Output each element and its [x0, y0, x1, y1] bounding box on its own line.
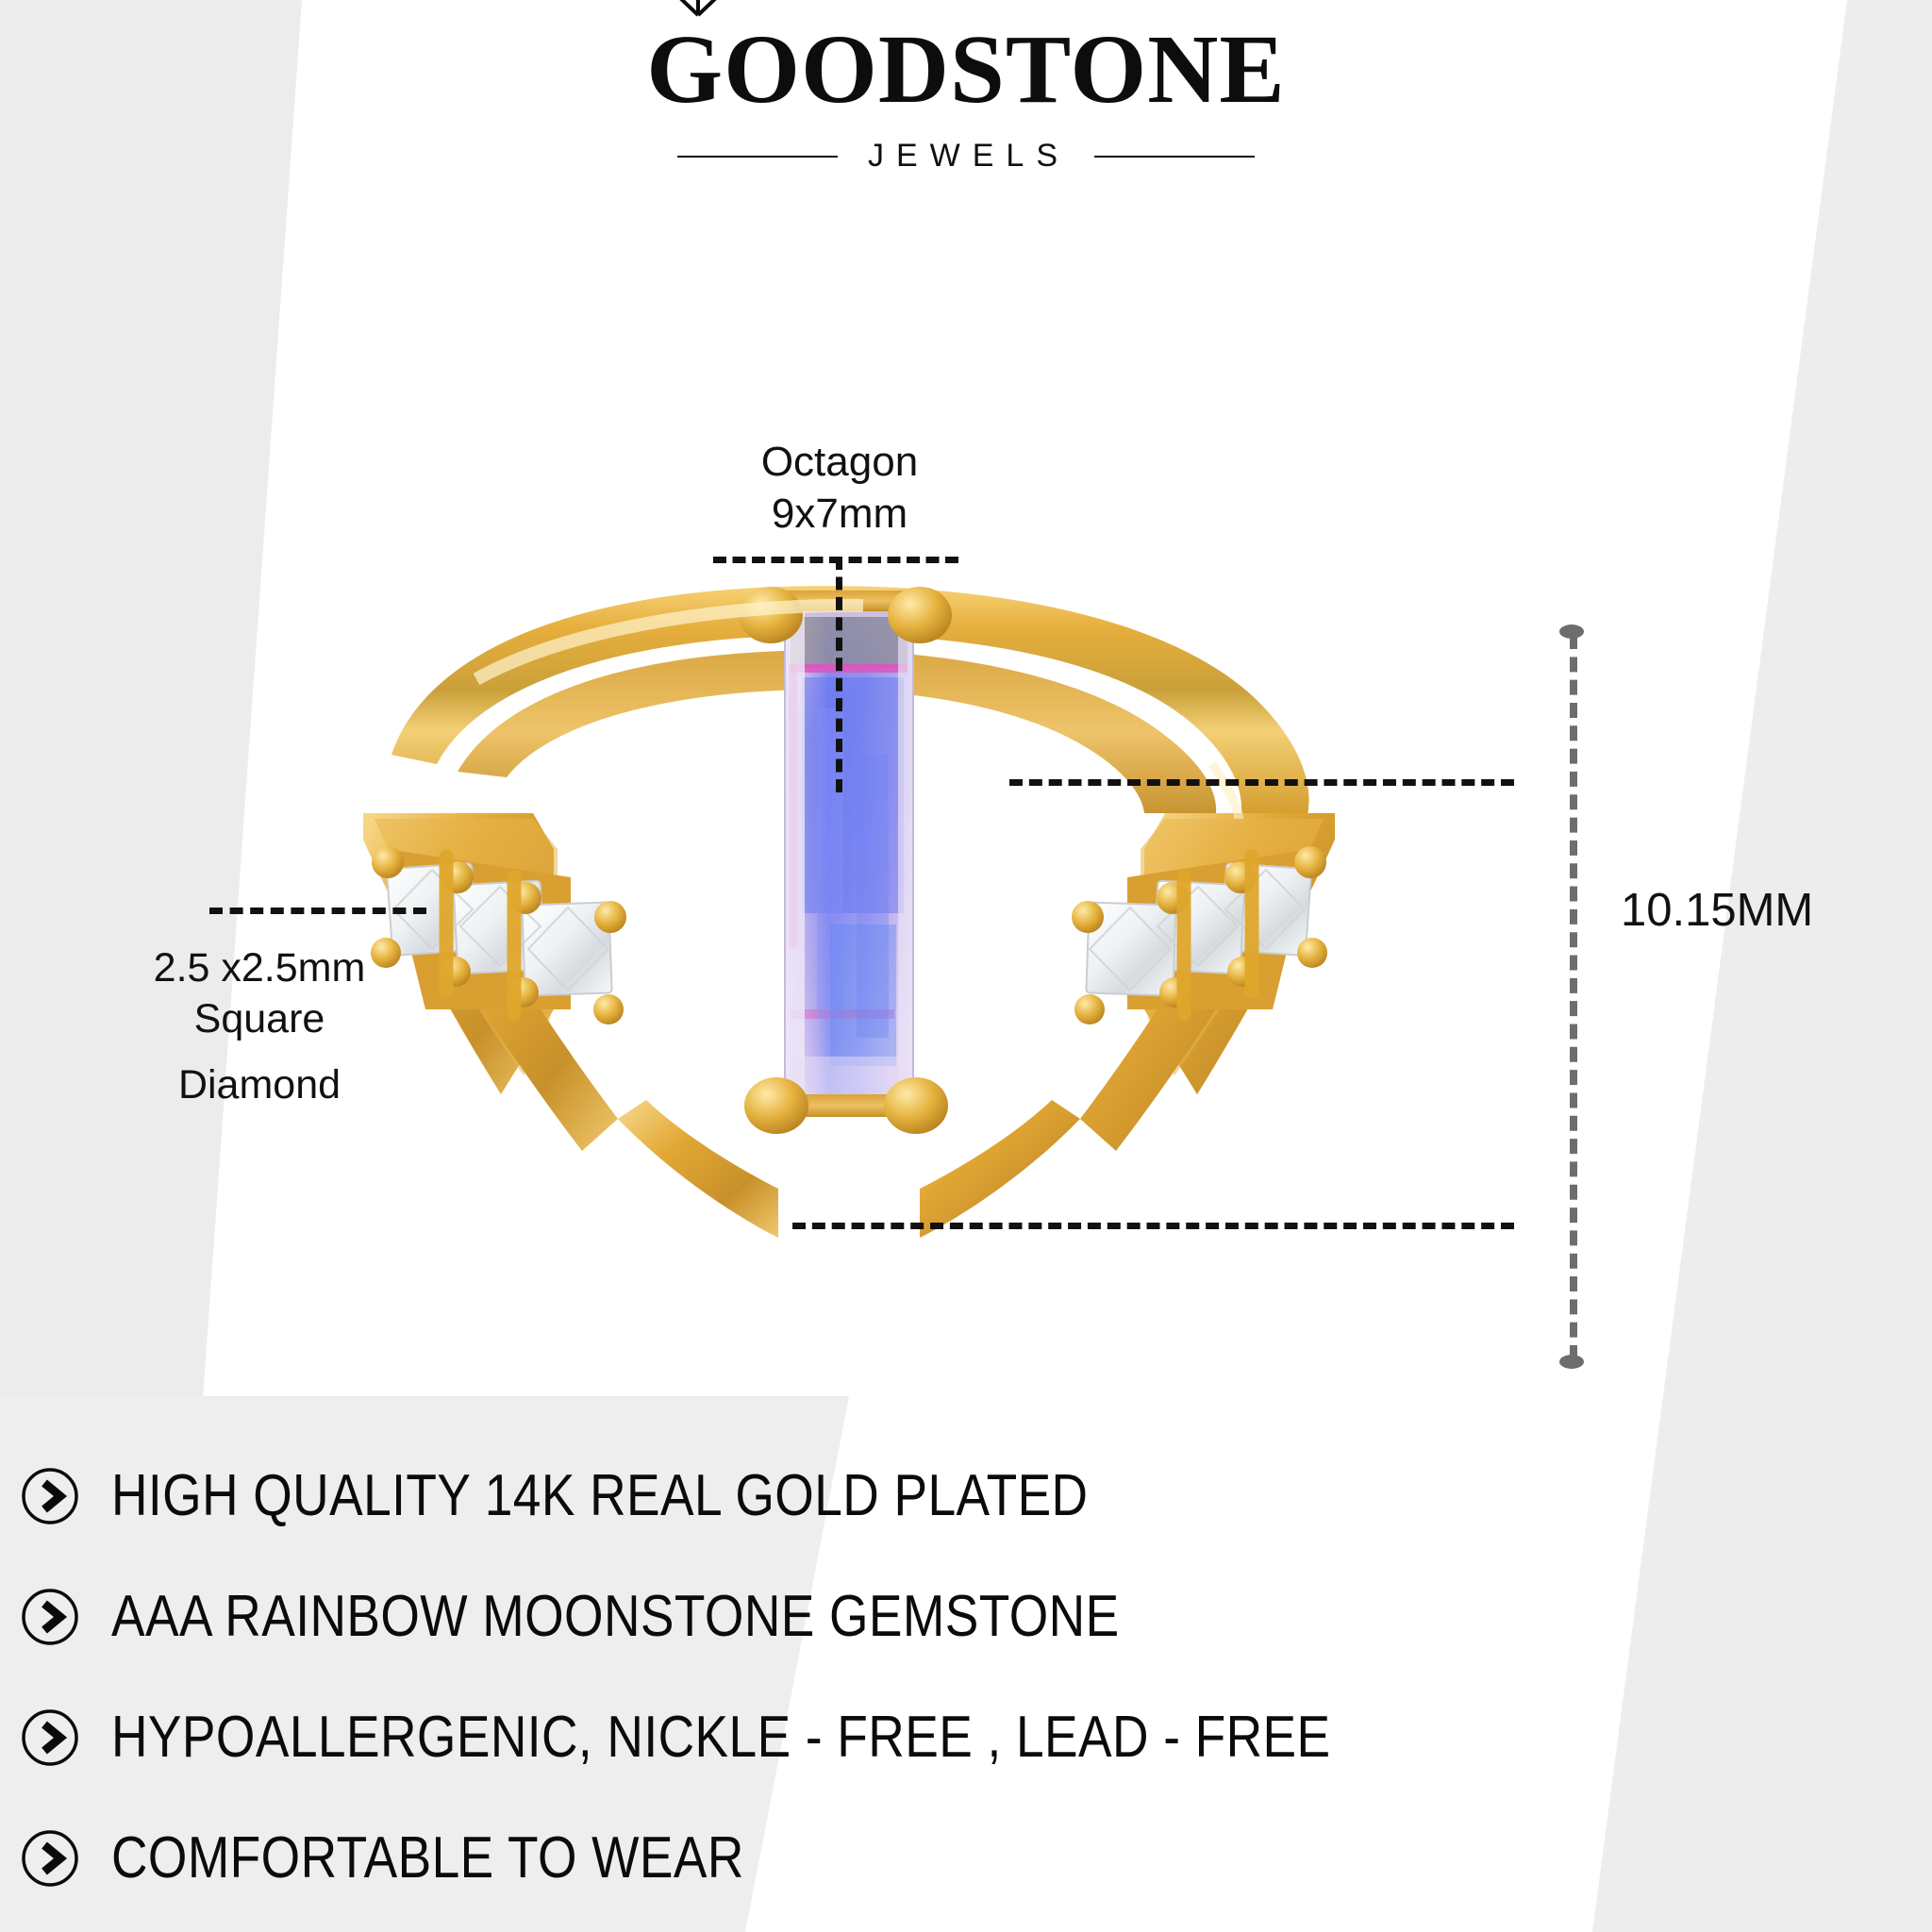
leader-line-octagon-vertical [836, 557, 842, 792]
brand-subtitle: JEWELS [862, 138, 1070, 175]
chevron-right-circle-icon [21, 1588, 79, 1646]
chevron-right-circle-icon [21, 1829, 79, 1888]
dimension-line-vertical [1570, 634, 1577, 1360]
ring-illustration [335, 566, 1363, 1283]
feature-label: HYPOALLERGENIC, NICKLE - FREE , LEAD - F… [111, 1708, 1331, 1767]
dimension-cap-bottom [1559, 1355, 1584, 1369]
feature-label: AAA RAINBOW MOONSTONE GEMSTONE [111, 1588, 1120, 1646]
side-stones-right [1072, 846, 1327, 1024]
annotation-side-stone-cut: Square [71, 994, 448, 1045]
feature-item: COMFORTABLE TO WEAR [21, 1798, 1813, 1919]
chevron-right-circle-icon [21, 1708, 79, 1767]
annotation-side-stone: 2.5 x2.5mm Square Diamond [71, 943, 448, 1110]
brand-rule-right [1094, 156, 1255, 158]
brand-wordmark: GOODSTONE [646, 21, 1285, 119]
center-gemstone-moonstone [780, 594, 923, 1123]
brand-subtitle-row: JEWELS [0, 138, 1932, 175]
brand-logo: GOODSTONE JEWELS [0, 21, 1932, 175]
feature-list: HIGH QUALITY 14K REAL GOLD PLATED AAA RA… [21, 1436, 1813, 1919]
dimension-tick-top [1009, 779, 1514, 786]
feature-item: HIGH QUALITY 14K REAL GOLD PLATED [21, 1436, 1813, 1557]
chevron-right-circle-icon [21, 1467, 79, 1525]
prong-bottom-right [884, 1077, 948, 1134]
annotation-center-stone-size: 9x7mm [651, 488, 1028, 540]
gallery-right [920, 1100, 1080, 1238]
brand-wordmark-text: GOODSTONE [646, 15, 1285, 124]
annotation-side-stone-material: Diamond [71, 1060, 448, 1111]
annotation-height: 10.15MM [1621, 882, 1813, 940]
crown-icon [663, 0, 733, 25]
annotation-side-stone-size: 2.5 x2.5mm [71, 943, 448, 994]
infographic-canvas: GOODSTONE JEWELS [0, 0, 1932, 1932]
feature-item: HYPOALLERGENIC, NICKLE - FREE , LEAD - F… [21, 1677, 1813, 1798]
product-image-ring [335, 566, 1363, 1283]
brand-rule-left [677, 156, 838, 158]
prong-bottom-left [744, 1077, 808, 1134]
annotation-center-stone-shape: Octagon [651, 436, 1028, 488]
feature-label: HIGH QUALITY 14K REAL GOLD PLATED [111, 1467, 1089, 1525]
leader-line-square-diamond [209, 908, 426, 914]
feature-label: COMFORTABLE TO WEAR [111, 1829, 744, 1888]
annotation-center-stone: Octagon 9x7mm [651, 436, 1028, 540]
feature-item: AAA RAINBOW MOONSTONE GEMSTONE [21, 1557, 1813, 1677]
prong-top-right [888, 587, 952, 643]
dimension-tick-bottom [792, 1223, 1514, 1229]
